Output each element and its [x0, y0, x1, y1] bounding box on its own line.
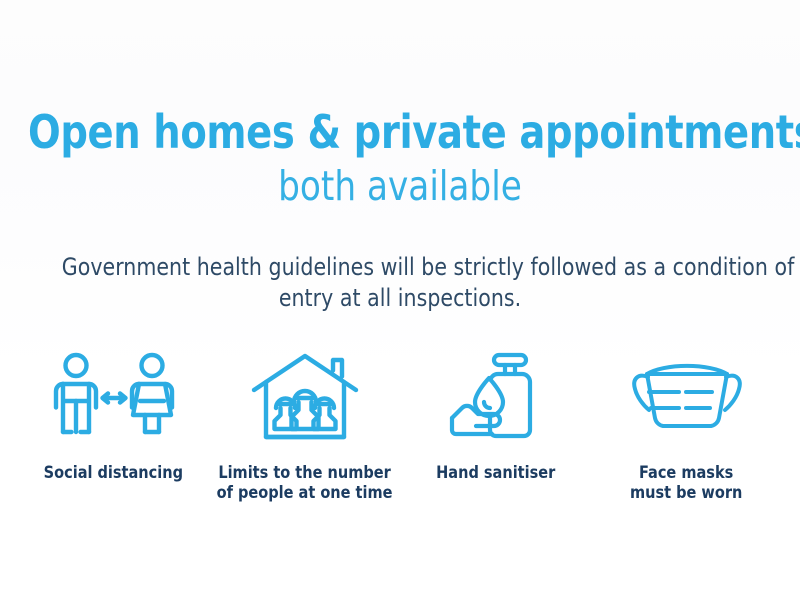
caption-line-1: Face masks — [630, 463, 742, 483]
guideline-caption-face-mask: Face masks must be worn — [630, 463, 742, 503]
guidelines-row: Social distancing — [18, 352, 782, 503]
page-subtitle: both available — [28, 162, 772, 210]
page-title: Open homes & private appointments — [28, 104, 772, 160]
caption-line-2: of people at one time — [217, 483, 393, 503]
body-copy-line-1: Government health guidelines will be str… — [62, 252, 738, 283]
caption-line-1: Limits to the number — [217, 463, 393, 483]
house-occupancy-limit-icon — [250, 352, 360, 444]
guideline-caption-occupancy-limit: Limits to the number of people at one ti… — [217, 463, 393, 503]
social-distancing-icon — [50, 352, 178, 444]
covid-safety-poster: Open homes & private appointments both a… — [0, 0, 800, 600]
caption-line-2: must be worn — [630, 483, 742, 503]
body-copy: Government health guidelines will be str… — [44, 252, 756, 314]
caption-line-1: Social distancing — [44, 463, 183, 483]
guideline-item-occupancy-limit: Limits to the number of people at one ti… — [209, 352, 400, 503]
guideline-item-hand-sanitiser: Hand sanitiser — [400, 352, 591, 483]
guideline-item-face-mask: Face masks must be worn — [591, 352, 782, 503]
body-copy-line-2: entry at all inspections. — [62, 283, 738, 314]
headline-block: Open homes & private appointments both a… — [0, 104, 800, 210]
hand-sanitiser-icon — [448, 352, 544, 444]
guideline-caption-social-distancing: Social distancing — [44, 463, 183, 483]
face-mask-icon — [631, 352, 743, 444]
caption-line-1: Hand sanitiser — [436, 463, 555, 483]
guideline-caption-hand-sanitiser: Hand sanitiser — [436, 463, 555, 483]
guideline-item-social-distancing: Social distancing — [18, 352, 209, 483]
